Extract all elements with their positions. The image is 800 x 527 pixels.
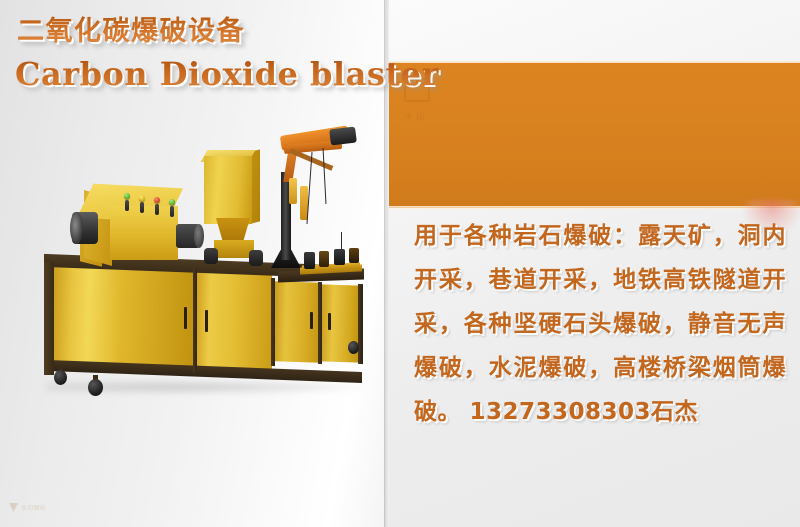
indicator-light-green-1 [124,193,130,199]
cabinet-divider-3 [318,282,322,364]
cabinet-panel-2 [197,271,272,374]
control-switch-2[interactable] [140,202,144,213]
indicator-light-green-2 [169,199,175,205]
roller-wheel-2 [319,251,329,267]
roller-wheel-1 [304,252,315,269]
control-switch-1[interactable] [125,200,129,211]
cabinet-door-handle-3 [310,312,313,329]
hopper-face [204,156,252,224]
crane-cable-2 [323,148,327,204]
caster-wheel-3 [348,341,359,354]
poster-canvas: 水印 二氧化碳爆破设备 Carbon Dioxide blaster 用于各种岩… [0,0,800,527]
product-machine-image [28,112,378,402]
roller-wheel-3 [334,249,345,265]
caster-wheel-1 [54,370,67,385]
corner-watermark: 水印图标 [9,503,46,512]
crane-cylinder [289,178,297,204]
cabinet-frame-right [358,284,363,364]
drive-shaft-cap [194,224,204,248]
page-title-cn: 二氧化碳爆破设备 [17,9,245,48]
indicator-light-red [154,197,160,203]
cabinet-frame-left [44,262,54,375]
hopper-foot-left [204,248,218,264]
description-text: 用于各种岩石爆破：露天矿，洞内开采，巷道开采，地铁高铁隧道开采，各种坚硬石头爆破… [414,214,786,434]
page-title-en: Carbon Dioxide blaster [15,55,439,93]
cabinet-door-handle-1 [184,307,187,329]
cabinet-panel-3 [275,281,320,363]
cabinet-divider-2 [271,278,275,366]
control-switch-4[interactable] [170,206,174,217]
cabinet-door-handle-4 [328,313,331,330]
crane-head-block [329,126,357,145]
cabinet-panel-1 [52,266,195,375]
watermark-label: 水印图标 [21,503,46,512]
control-switch-3[interactable] [155,204,159,215]
cabinet-divider-1 [193,269,197,373]
motor-housing-face [110,206,178,260]
band-watermark-text: 水印 [404,112,428,122]
indicator-light-yellow [139,195,145,201]
watermark-logo-icon [9,503,18,512]
caster-wheel-2 [88,379,103,396]
cabinet-door-handle-2 [205,310,208,332]
roller-wheel-4 [349,248,359,263]
hopper-base [214,240,254,258]
hopper-foot-right [249,250,263,266]
motor-drum-face [70,212,83,244]
orange-band-bottom-highlight [389,206,800,210]
